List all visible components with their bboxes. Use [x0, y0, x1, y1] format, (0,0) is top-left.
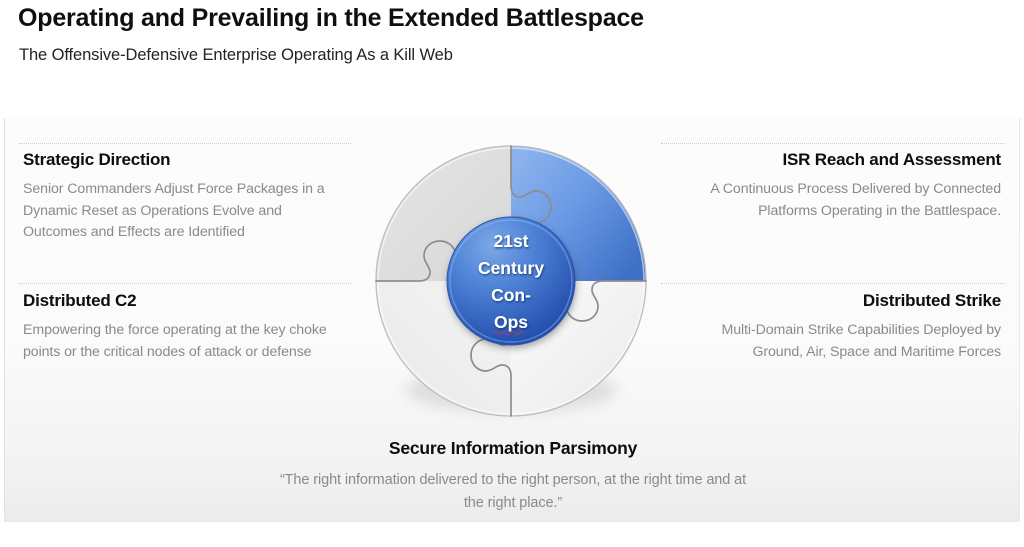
puzzle-svg: 21st Century Con- Ops: [341, 118, 681, 458]
circular-jigsaw-diagram: 21st Century Con- Ops: [341, 118, 681, 458]
body-secure-information-parsimony: “The right information delivered to the …: [273, 469, 753, 515]
heading-distributed-strike: Distributed Strike: [671, 291, 1001, 311]
body-strategic-direction: Senior Commanders Adjust Force Packages …: [23, 179, 343, 244]
content-panel: Strategic Direction Senior Commanders Ad…: [4, 118, 1020, 522]
block-isr-reach-and-assessment: ISR Reach and Assessment A Continuous Pr…: [671, 150, 1001, 222]
divider-right-mid: [661, 283, 1005, 284]
body-isr-reach-and-assessment: A Continuous Process Delivered by Connec…: [671, 179, 1001, 222]
divider-left-top: [19, 143, 351, 144]
center-label-line-3: Con-: [491, 285, 531, 305]
center-label-line-1: 21st: [493, 231, 528, 251]
block-strategic-direction: Strategic Direction Senior Commanders Ad…: [23, 150, 343, 244]
body-distributed-strike: Multi-Domain Strike Capabilities Deploye…: [671, 320, 1001, 363]
page-subtitle: The Offensive-Defensive Enterprise Opera…: [19, 46, 453, 65]
block-distributed-strike: Distributed Strike Multi-Domain Strike C…: [671, 291, 1001, 363]
block-distributed-c2: Distributed C2 Empowering the force oper…: [23, 291, 343, 363]
body-distributed-c2: Empowering the force operating at the ke…: [23, 320, 343, 363]
heading-strategic-direction: Strategic Direction: [23, 150, 343, 170]
page-title: Operating and Prevailing in the Extended…: [18, 4, 644, 33]
divider-left-mid: [19, 283, 351, 284]
heading-isr-reach-and-assessment: ISR Reach and Assessment: [671, 150, 1001, 170]
center-label-line-4: Ops: [494, 312, 528, 332]
center-label-line-2: Century: [478, 258, 544, 278]
heading-distributed-c2: Distributed C2: [23, 291, 343, 311]
divider-right-top: [661, 143, 1005, 144]
